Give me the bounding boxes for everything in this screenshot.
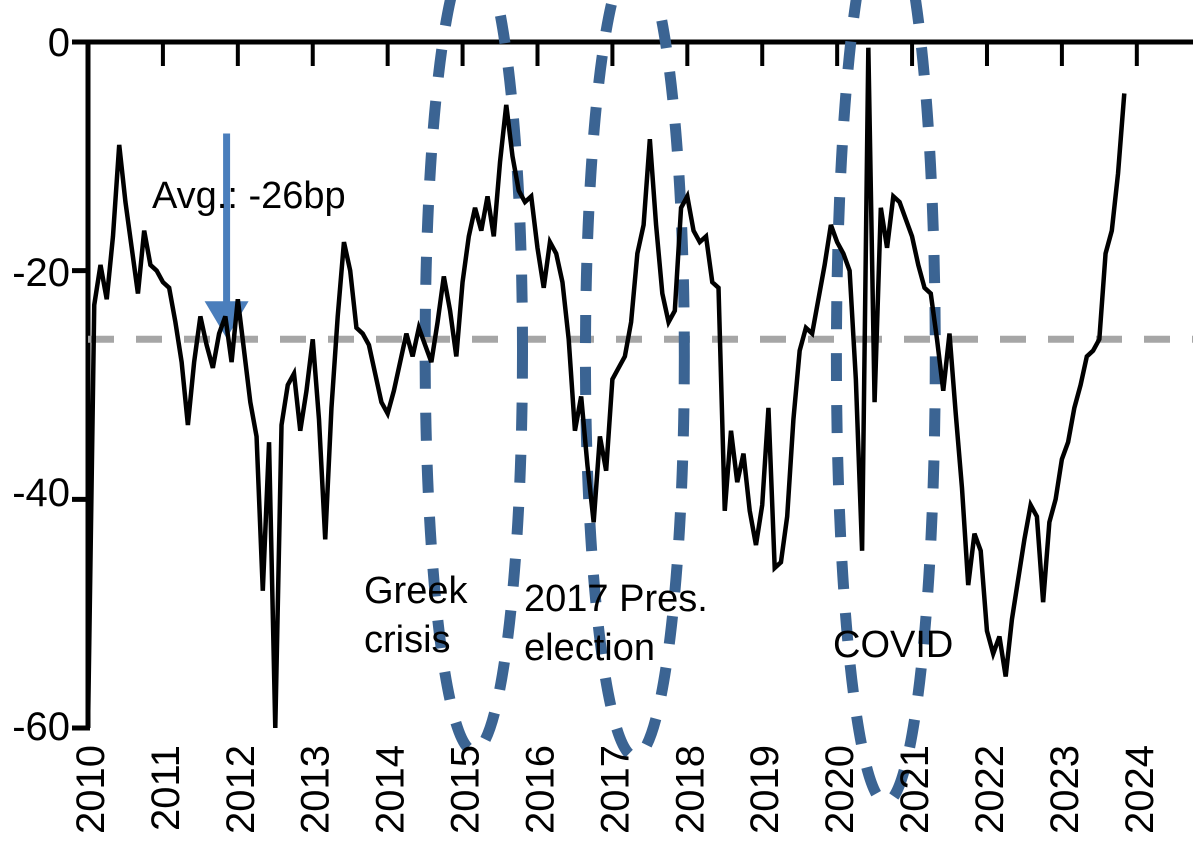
pres-election-label-line1: 2017 Pres. <box>524 578 708 620</box>
x-tick-label-2019: 2019 <box>743 745 787 834</box>
covid-label: COVID <box>833 624 953 666</box>
y-tick-label-60: -60 <box>12 705 70 749</box>
x-tick-label-2010: 2010 <box>69 745 113 834</box>
x-tick-label-2024: 2024 <box>1118 745 1162 834</box>
chart-background <box>0 0 1200 852</box>
x-tick-label-2021: 2021 <box>893 745 937 834</box>
x-tick-label-2017: 2017 <box>593 745 637 834</box>
greek-crisis-label-line2: crisis <box>364 619 451 661</box>
x-tick-label-2020: 2020 <box>818 745 862 834</box>
x-tick-label-2022: 2022 <box>968 745 1012 834</box>
x-tick-label-2018: 2018 <box>668 745 712 834</box>
x-tick-label-2011: 2011 <box>144 745 188 831</box>
y-tick-label-20: -20 <box>12 251 70 295</box>
pres-election-label-line2: election <box>524 627 655 669</box>
greek-crisis-label-line1: Greek <box>364 570 468 612</box>
y-tick-label-0: 0 <box>48 21 70 65</box>
average-annotation-label: Avg.: -26bp <box>152 175 346 217</box>
x-tick-label-2016: 2016 <box>518 745 562 834</box>
line-chart: 0 -20 -40 -60 Avg.: -26bp Greek crisis 2… <box>0 0 1200 852</box>
chart-container: 0 -20 -40 -60 Avg.: -26bp Greek crisis 2… <box>0 0 1200 852</box>
x-axis-tick-labels: 2010201120122013201420152016201720182019… <box>69 745 1162 834</box>
y-tick-label-40: -40 <box>12 471 70 515</box>
x-tick-label-2014: 2014 <box>369 745 413 834</box>
x-tick-label-2013: 2013 <box>294 745 338 834</box>
x-tick-label-2012: 2012 <box>219 745 263 834</box>
x-tick-label-2023: 2023 <box>1043 745 1087 834</box>
x-tick-label-2015: 2015 <box>444 745 488 834</box>
